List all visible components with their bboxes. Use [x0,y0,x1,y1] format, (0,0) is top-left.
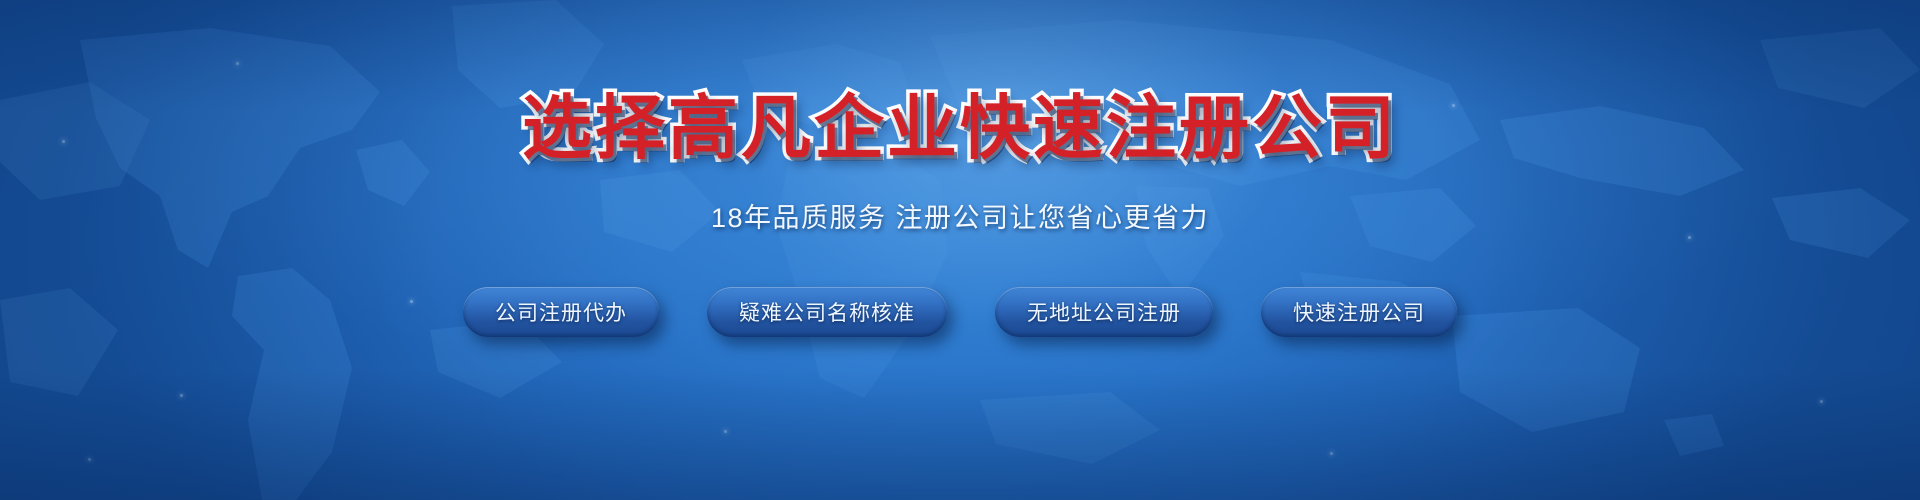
service-tag-company-registration-agency[interactable]: 公司注册代办 [463,287,659,337]
service-tag-fast-registration[interactable]: 快速注册公司 [1261,287,1457,337]
service-tag-list: 公司注册代办 疑难公司名称核准 无地址公司注册 快速注册公司 [463,287,1457,337]
banner-headline: 选择高凡企业快速注册公司 [522,92,1398,166]
banner-content: 选择高凡企业快速注册公司 18年品质服务 注册公司让您省心更省力 公司注册代办 … [0,0,1920,500]
banner-subheadline: 18年品质服务 注册公司让您省心更省力 [711,196,1209,235]
service-tag-no-address-registration[interactable]: 无地址公司注册 [995,287,1213,337]
promo-banner: 选择高凡企业快速注册公司 18年品质服务 注册公司让您省心更省力 公司注册代办 … [0,0,1920,500]
service-tag-difficult-name-approval[interactable]: 疑难公司名称核准 [707,287,947,337]
